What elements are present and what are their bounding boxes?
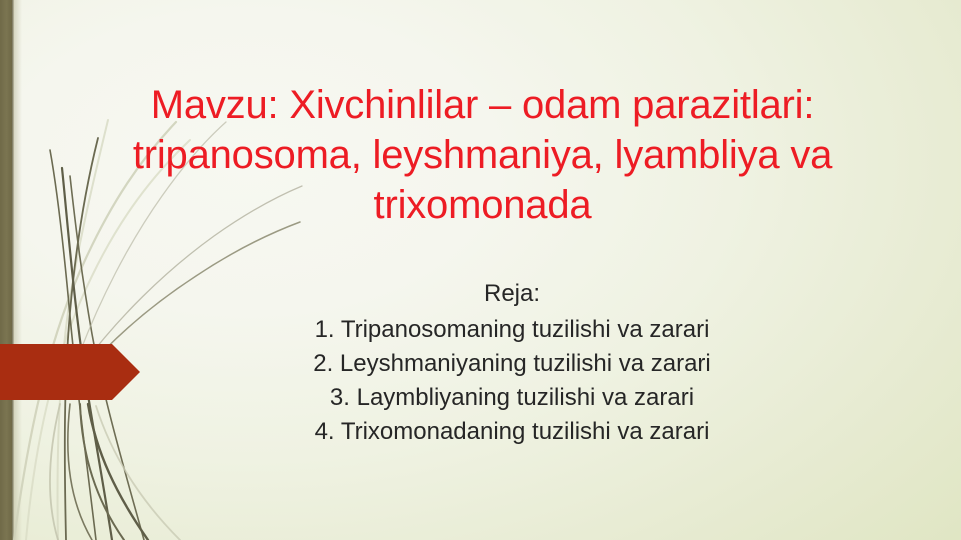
presentation-slide: Mavzu: Xivchinlilar – odam parazitlari: …	[0, 0, 961, 540]
body-heading-reja: Reja:	[78, 277, 946, 311]
body-item-3: 3. Laymbliyaning tuzilishi va zarari	[78, 381, 946, 415]
slide-title: Mavzu: Xivchinlilar – odam parazitlari: …	[60, 80, 905, 230]
left-band-soft-shadow	[14, 0, 22, 540]
left-olive-band	[0, 0, 12, 540]
body-item-2: 2. Leyshmaniyaning tuzilishi va zarari	[78, 347, 946, 381]
title-line-1: Mavzu: Xivchinlilar – odam parazitlari:	[60, 80, 905, 130]
body-item-1: 1. Tripanosomaning tuzilishi va zarari	[78, 313, 946, 347]
title-line-3: trixomonada	[60, 180, 905, 230]
slide-body: Reja: 1. Tripanosomaning tuzilishi va za…	[78, 277, 946, 449]
title-line-2: tripanosoma, leyshmaniya, lyambliya va	[60, 130, 905, 180]
body-item-4: 4. Trixomonadaning tuzilishi va zarari	[78, 415, 946, 449]
